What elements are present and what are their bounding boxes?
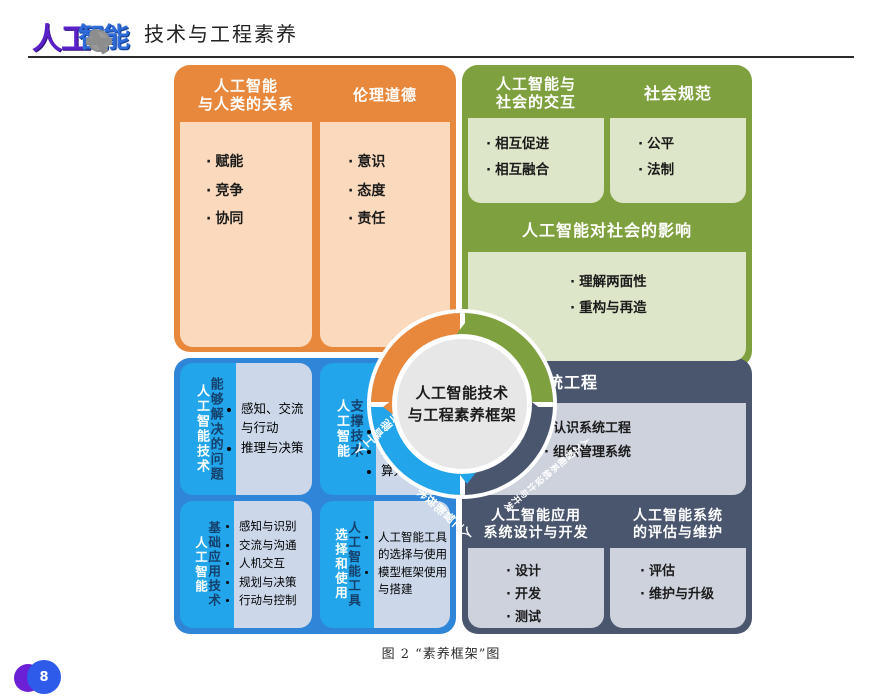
center-ring: 人工智能与人类 人工智能与社会 人工智能系统设计与开发 人工智能技术 人工智能技… [371, 313, 553, 495]
card-title-band: 人工智能技术 能够解决的问题 [180, 363, 236, 495]
card-title-line: 人工智能 [194, 536, 207, 594]
page-number: 8 [27, 660, 61, 694]
page-number-badge: 8 [14, 660, 74, 696]
card-title-line: 与人类的关系 [198, 95, 294, 113]
list-item: 赋能 [206, 148, 312, 177]
card-title: 人工智能系统 的评估与维护 [610, 501, 746, 548]
brand-logo: 人工 智能 [32, 14, 144, 48]
card-ai-social-interaction[interactable]: 人工智能与 社会的交互 相互促进 相互融合 [468, 70, 604, 203]
list-item: 意识 [348, 148, 450, 177]
card-title-line: 人工智能 [334, 399, 348, 459]
card-title-line: 人工智能 [214, 77, 278, 95]
card-ai-tools-selection-use[interactable]: 选择和使用 人工智能工具 人工智能工具的选择与使用 模型框架使用与搭建 [320, 501, 450, 628]
card-title-line: 选择和使用 [334, 528, 347, 601]
list-item: 维护与升级 [640, 583, 746, 606]
list-item: 行动与控制 [239, 592, 297, 611]
card-title-line: 社会的交互 [496, 93, 576, 111]
center-title-line-1: 人工智能技术 [415, 382, 508, 405]
list-item: 责任 [348, 205, 450, 234]
list-item: 模型框架使用与搭建 [378, 565, 450, 600]
card-ai-human-relation[interactable]: 人工智能 与人类的关系 赋能 竞争 协同 [180, 70, 312, 347]
card-title: 人工智能应用 系统设计与开发 [468, 501, 604, 548]
list-item: 交流与沟通 [239, 537, 297, 556]
card-body: 感知、交流与行动 推理与决策 [236, 363, 312, 495]
card-body: 相互促进 相互融合 [468, 118, 604, 203]
center-title-line-2: 与工程素养框架 [408, 404, 517, 427]
arrow-right-icon [528, 399, 541, 419]
card-body: 公平 法制 [610, 118, 746, 203]
card-title-line: 社会规范 [644, 85, 712, 104]
card-title: 人工智能 与人类的关系 [180, 70, 312, 122]
slide-header: 人工 智能 技术与工程素养 [0, 0, 882, 56]
card-ai-app-system-design[interactable]: 人工智能应用 系统设计与开发 设计 开发 测试 [468, 501, 604, 628]
page-title: 技术与工程素养 [144, 18, 298, 47]
framework-diagram: 人工智能 与人类的关系 赋能 竞争 协同 伦理道德 意识 态度 责 [0, 60, 882, 635]
list-item: 相互融合 [486, 158, 604, 184]
list-item: 开发 [506, 583, 604, 606]
list-item: 规划与决策 [239, 574, 297, 593]
list-item: 测试 [506, 606, 604, 628]
list-item: 法制 [638, 158, 746, 184]
card-social-norms[interactable]: 社会规范 公平 法制 [610, 70, 746, 203]
list-item: 协同 [206, 205, 312, 234]
card-body: 人工智能工具的选择与使用 模型框架使用与搭建 [374, 501, 450, 628]
list-item: 设计 [506, 560, 604, 583]
list-item: 感知与识别 [239, 518, 297, 537]
card-ai-basic-application-tech[interactable]: 人工智能 基础应用技术 感知与识别 交流与沟通 人机交互 规划与决策 行动与控制 [180, 501, 312, 628]
card-title-line: 的评估与维护 [633, 525, 723, 541]
card-title-line: 人工智能对社会的影响 [522, 222, 692, 241]
card-title-line: 能够解决的问题 [208, 377, 222, 482]
center-circle: 人工智能技术 与工程素养框架 [397, 339, 527, 469]
list-item: 认识系统工程 [544, 417, 746, 441]
card-body: 评估 维护与升级 [610, 548, 746, 628]
card-title: 社会规范 [610, 70, 746, 118]
card-title: 伦理道德 [320, 70, 450, 122]
card-title-line: 基础应用技术 [207, 521, 220, 608]
card-body: 赋能 竞争 协同 [180, 122, 312, 347]
slide-page: 人工 智能 技术与工程素养 人工智能 与人类的关系 赋能 [0, 0, 882, 699]
list-item: 评估 [640, 560, 746, 583]
arrow-up-icon [455, 323, 475, 336]
card-title-line: 系统设计与开发 [484, 525, 589, 541]
card-title-line: 人工智能工具 [347, 521, 360, 608]
figure-caption: 图 2 “素养框架”图 [0, 643, 882, 662]
arrow-left-icon [383, 397, 396, 417]
card-ethics-morality[interactable]: 伦理道德 意识 态度 责任 [320, 70, 450, 347]
list-item: 竞争 [206, 177, 312, 206]
card-title-line: 人工智能技术 [194, 384, 208, 474]
logo-artwork: 人工 智能 [32, 14, 144, 48]
card-body: 设计 开发 测试 [468, 548, 604, 628]
list-item: 人工智能工具的选择与使用 [378, 530, 450, 565]
card-ai-system-evaluation-maintenance[interactable]: 人工智能系统 的评估与维护 评估 维护与升级 [610, 501, 746, 628]
card-title-line: 伦理道德 [353, 87, 417, 105]
list-item: 相互促进 [486, 132, 604, 158]
arrow-down-icon [457, 471, 477, 484]
list-item: 感知、交流与行动 [241, 400, 312, 439]
card-title: 人工智能与 社会的交互 [468, 70, 604, 118]
list-item: 推理与决策 [241, 439, 312, 458]
list-item: 重构与再造 [570, 296, 746, 322]
card-ai-solvable-problems[interactable]: 人工智能技术 能够解决的问题 感知、交流与行动 推理与决策 [180, 363, 312, 495]
card-title-line: 人工智能与 [496, 75, 576, 93]
gear-icon [88, 30, 110, 52]
card-title: 人工智能对社会的影响 [468, 210, 746, 252]
header-divider [28, 56, 854, 58]
list-item: 人机交互 [239, 555, 297, 574]
list-item: 公平 [638, 132, 746, 158]
card-title-line: 人工智能系统 [633, 508, 723, 524]
list-item: 理解两面性 [570, 270, 746, 296]
card-body: 感知与识别 交流与沟通 人机交互 规划与决策 行动与控制 [234, 501, 312, 628]
list-item: 态度 [348, 177, 450, 206]
